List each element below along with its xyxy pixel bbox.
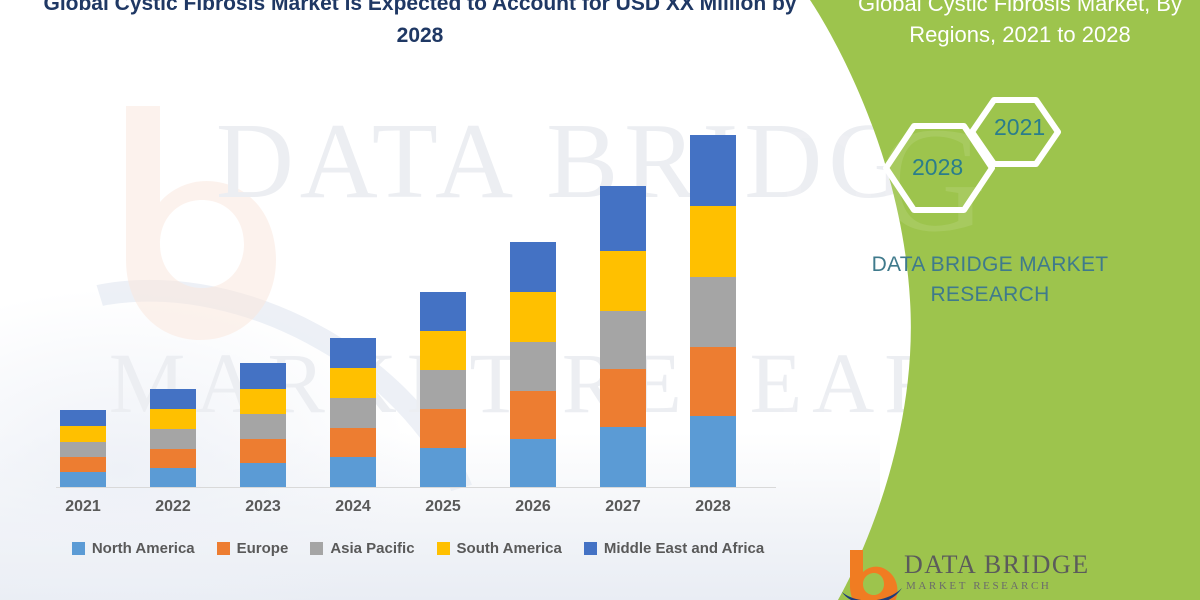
hexagon-badges: 2021 2028 xyxy=(868,96,1068,236)
legend-item-south-america[interactable]: South America xyxy=(437,540,562,557)
legend-item-middle-east-and-africa[interactable]: Middle East and Africa xyxy=(584,540,764,557)
bar-segment xyxy=(420,292,466,331)
bar-2024 xyxy=(330,338,376,487)
legend-item-asia-pacific[interactable]: Asia Pacific xyxy=(310,540,414,557)
chart-legend: North AmericaEuropeAsia PacificSouth Ame… xyxy=(56,540,780,557)
bar-segment xyxy=(330,398,376,428)
bar-segment xyxy=(150,429,196,449)
panel-brand-line-1: DATA BRIDGE MARKET xyxy=(780,250,1200,280)
company-logo: DATA BRIDGE MARKET RESEARCH xyxy=(842,548,1172,600)
logo-tagline: MARKET RESEARCH xyxy=(906,580,1051,592)
legend-swatch-icon xyxy=(72,542,85,555)
bar-segment xyxy=(600,311,646,369)
svg-text:R: R xyxy=(780,363,850,496)
bar-segment xyxy=(150,468,196,487)
bar-2027 xyxy=(600,186,646,487)
logo-mark-icon xyxy=(842,548,902,600)
bar-segment xyxy=(60,472,106,487)
bar-segment xyxy=(510,391,556,439)
bar-segment xyxy=(600,251,646,311)
bar-2021 xyxy=(60,410,106,487)
bar-segment xyxy=(330,338,376,368)
legend-swatch-icon xyxy=(437,542,450,555)
bar-segment xyxy=(690,347,736,416)
bar-segment xyxy=(330,428,376,457)
bar-2026 xyxy=(510,242,556,487)
bar-segment xyxy=(150,389,196,409)
legend-swatch-icon xyxy=(217,542,230,555)
legend-swatch-icon xyxy=(310,542,323,555)
x-tick-2024: 2024 xyxy=(308,498,398,516)
legend-label: Europe xyxy=(237,540,289,557)
bar-segment xyxy=(150,409,196,429)
chart-plot-area: 20212022202320242025202620272028 xyxy=(0,0,880,600)
legend-item-europe[interactable]: Europe xyxy=(217,540,289,557)
bar-segment xyxy=(510,292,556,342)
legend-label: North America xyxy=(92,540,195,557)
bar-segment xyxy=(690,135,736,206)
x-tick-2026: 2026 xyxy=(488,498,578,516)
bar-segment xyxy=(240,389,286,414)
legend-label: Middle East and Africa xyxy=(604,540,764,557)
bar-segment xyxy=(240,439,286,463)
bar-segment xyxy=(240,363,286,389)
x-tick-2021: 2021 xyxy=(38,498,128,516)
bar-segment xyxy=(330,368,376,398)
bar-segment xyxy=(60,426,106,442)
bar-segment xyxy=(600,186,646,251)
bar-segment xyxy=(510,342,556,391)
bar-segment xyxy=(690,416,736,487)
bar-segment xyxy=(600,369,646,427)
x-tick-2027: 2027 xyxy=(578,498,668,516)
bar-segment xyxy=(690,206,736,277)
bar-segment xyxy=(510,242,556,292)
bar-segment xyxy=(690,277,736,347)
legend-item-north-america[interactable]: North America xyxy=(72,540,195,557)
panel-brand-line-2: RESEARCH xyxy=(780,280,1200,310)
bar-segment xyxy=(240,414,286,439)
bar-segment xyxy=(60,442,106,457)
panel-brand: DATA BRIDGE MARKET RESEARCH xyxy=(780,250,1200,310)
x-tick-2025: 2025 xyxy=(398,498,488,516)
bar-segment xyxy=(60,410,106,426)
bar-segment xyxy=(420,370,466,409)
bar-2025 xyxy=(420,292,466,487)
hexagon-2021-label: 2021 xyxy=(994,114,1045,141)
right-info-panel: DG R Global Cystic Fibrosis Market, By R… xyxy=(780,0,1200,600)
legend-label: Asia Pacific xyxy=(330,540,414,557)
logo-wordmark: DATA BRIDGE xyxy=(904,550,1090,580)
bar-2028 xyxy=(690,135,736,487)
bar-segment xyxy=(60,457,106,472)
x-tick-2028: 2028 xyxy=(668,498,758,516)
chart-baseline xyxy=(56,487,776,488)
legend-label: South America xyxy=(457,540,562,557)
bar-segment xyxy=(420,409,466,448)
bar-segment xyxy=(420,331,466,370)
bar-segment xyxy=(510,439,556,487)
bar-segment xyxy=(240,463,286,487)
bar-segment xyxy=(330,457,376,487)
bar-segment xyxy=(600,427,646,487)
bar-2023 xyxy=(240,363,286,487)
bar-2022 xyxy=(150,389,196,487)
legend-swatch-icon xyxy=(584,542,597,555)
hexagon-2028-label: 2028 xyxy=(912,154,963,181)
bar-segment xyxy=(150,449,196,468)
x-tick-2022: 2022 xyxy=(128,498,218,516)
x-tick-2023: 2023 xyxy=(218,498,308,516)
bar-segment xyxy=(420,448,466,487)
panel-title: Global Cystic Fibrosis Market, By Region… xyxy=(840,0,1200,50)
